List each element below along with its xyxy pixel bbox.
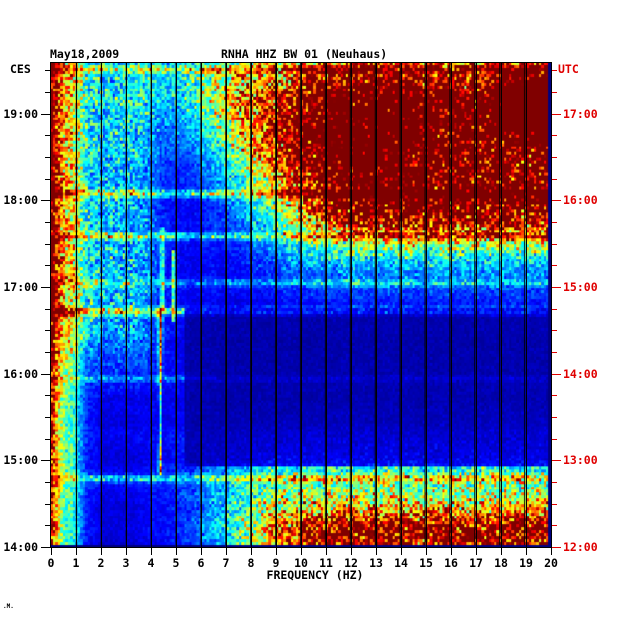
right-axis-tick xyxy=(552,114,561,115)
left-axis-tick xyxy=(45,265,50,266)
left-axis-tick xyxy=(45,244,50,245)
right-axis-tick xyxy=(552,417,557,418)
left-axis-tick xyxy=(41,200,50,201)
frequency-axis-tick xyxy=(501,548,502,555)
left-axis-tick xyxy=(45,352,50,353)
left-axis-time-label: 17:00 xyxy=(0,280,38,294)
left-axis-tick xyxy=(41,460,50,461)
left-axis-time-label: 19:00 xyxy=(0,107,38,121)
right-axis-time-label: 14:00 xyxy=(563,367,598,381)
spectrogram-plot-area[interactable] xyxy=(50,62,552,548)
frequency-axis-tick xyxy=(301,548,302,555)
right-axis-tick xyxy=(552,157,557,158)
right-axis-time-label: 12:00 xyxy=(563,540,598,554)
left-axis-tick xyxy=(45,395,50,396)
frequency-axis-tick xyxy=(51,548,52,555)
right-axis-tick xyxy=(552,460,561,461)
corner-artifact-mark: .M. xyxy=(3,603,14,610)
right-axis-tick xyxy=(552,244,557,245)
frequency-axis-tick xyxy=(201,548,202,555)
right-axis-time-label: 13:00 xyxy=(563,453,598,467)
right-axis-tick xyxy=(552,200,561,201)
spectrogram-page: May18,2009 RNHA HHZ BW 01 (Neuhaus) CES … xyxy=(0,0,630,624)
left-axis-tick xyxy=(41,374,50,375)
left-axis-tick xyxy=(45,70,50,71)
right-axis-tick xyxy=(552,374,561,375)
frequency-axis-tick xyxy=(326,548,327,555)
left-axis-time-label: 14:00 xyxy=(0,540,38,554)
frequency-axis-tick xyxy=(176,548,177,555)
left-axis-time-label: 15:00 xyxy=(0,453,38,467)
frequency-axis-tick xyxy=(526,548,527,555)
frequency-axis-tick xyxy=(226,548,227,555)
frequency-axis-tick xyxy=(251,548,252,555)
left-axis-tick xyxy=(45,330,50,331)
left-axis-time-label: 18:00 xyxy=(0,193,38,207)
right-axis-time-label: 16:00 xyxy=(563,193,598,207)
left-axis-tick xyxy=(41,114,50,115)
left-axis-timezone-label: CES xyxy=(10,62,31,76)
frequency-axis-tick xyxy=(551,548,552,555)
frequency-axis-tick xyxy=(376,548,377,555)
left-axis-tick xyxy=(45,309,50,310)
left-axis-tick xyxy=(45,157,50,158)
frequency-axis-tick xyxy=(426,548,427,555)
right-axis-tick xyxy=(552,482,557,483)
right-axis-tick xyxy=(552,222,557,223)
right-axis-tick xyxy=(552,287,561,288)
right-axis-tick xyxy=(552,265,557,266)
left-axis-tick xyxy=(45,135,50,136)
plot-station-label: RNHA HHZ BW 01 (Neuhaus) xyxy=(221,47,387,61)
frequency-axis-tick xyxy=(126,548,127,555)
left-axis-tick xyxy=(45,525,50,526)
left-axis-tick xyxy=(45,92,50,93)
right-axis-tick xyxy=(552,525,557,526)
right-axis-tick xyxy=(552,309,557,310)
left-axis-tick xyxy=(45,504,50,505)
frequency-axis-tick xyxy=(276,548,277,555)
left-axis-tick xyxy=(41,287,50,288)
right-axis-tick xyxy=(552,70,557,71)
left-axis-time-label: 16:00 xyxy=(0,367,38,381)
spectrogram-heatmap-canvas[interactable] xyxy=(51,63,551,547)
right-axis-tick xyxy=(552,92,557,93)
left-axis-tick xyxy=(41,547,50,548)
frequency-axis-tick xyxy=(76,548,77,555)
left-axis-tick xyxy=(45,482,50,483)
left-axis-tick xyxy=(45,417,50,418)
plot-date-label: May18,2009 xyxy=(50,47,119,61)
right-axis-time-label: 15:00 xyxy=(563,280,598,294)
left-axis-tick xyxy=(45,222,50,223)
right-axis-tick xyxy=(552,395,557,396)
right-axis-timezone-label: UTC xyxy=(558,62,579,76)
right-axis-tick xyxy=(552,330,557,331)
left-axis-tick xyxy=(45,179,50,180)
x-axis-title: FREQUENCY (HZ) xyxy=(0,568,630,582)
right-axis-time-label: 17:00 xyxy=(563,107,598,121)
right-axis-tick xyxy=(552,352,557,353)
right-axis-tick xyxy=(552,504,557,505)
frequency-axis-tick xyxy=(401,548,402,555)
right-axis-tick xyxy=(552,135,557,136)
frequency-axis-tick xyxy=(151,548,152,555)
frequency-axis-tick xyxy=(101,548,102,555)
frequency-axis-tick xyxy=(451,548,452,555)
frequency-axis-tick xyxy=(351,548,352,555)
right-axis-tick xyxy=(552,439,557,440)
right-axis-tick xyxy=(552,547,561,548)
left-axis-tick xyxy=(45,439,50,440)
right-axis-tick xyxy=(552,179,557,180)
frequency-axis-tick xyxy=(476,548,477,555)
